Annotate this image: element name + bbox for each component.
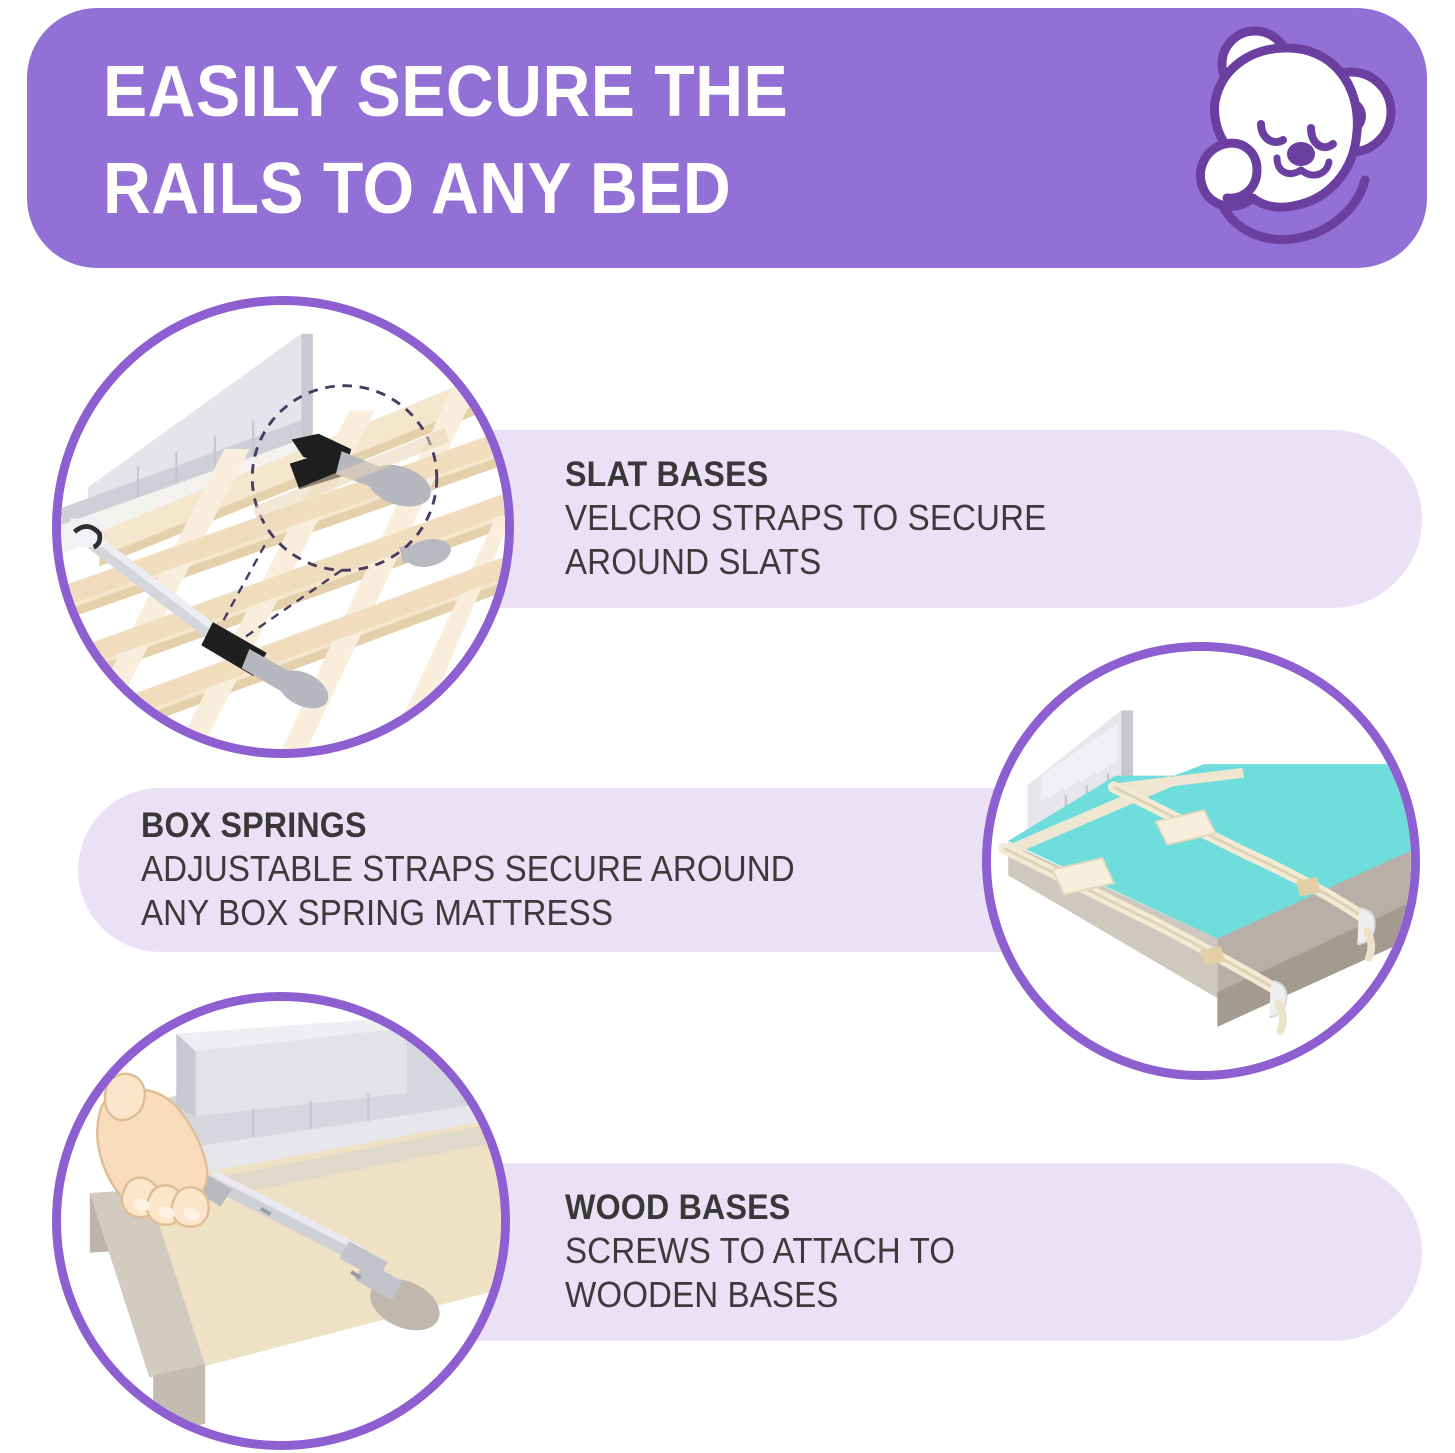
illustration-slat-bases [52,296,514,758]
illustration-wood-bases [52,992,510,1450]
section-body-wood-bases: SCREWS TO ATTACH TO WOODEN BASES [565,1229,1353,1317]
sleeping-bear-logo-icon [1165,20,1405,260]
illustration-box-springs [982,642,1420,1080]
section-heading-wood-bases: WOOD BASES [565,1187,1353,1229]
header-banner: EASILY SECURE THE RAILS TO ANY BED [27,8,1427,268]
section-heading-slat-bases: SLAT BASES [565,454,1353,496]
section-body-box-springs: ADJUSTABLE STRAPS SECURE AROUND ANY BOX … [141,847,1038,935]
infographic-page: EASILY SECURE THE RAILS TO ANY BED [0,0,1455,1453]
page-title: EASILY SECURE THE RAILS TO ANY BED [103,44,913,238]
section-body-slat-bases: VELCRO STRAPS TO SECURE AROUND SLATS [565,496,1353,584]
section-heading-box-springs: BOX SPRINGS [141,805,1038,847]
section-pill-box-springs: BOX SPRINGS ADJUSTABLE STRAPS SECURE ARO… [78,788,1116,952]
